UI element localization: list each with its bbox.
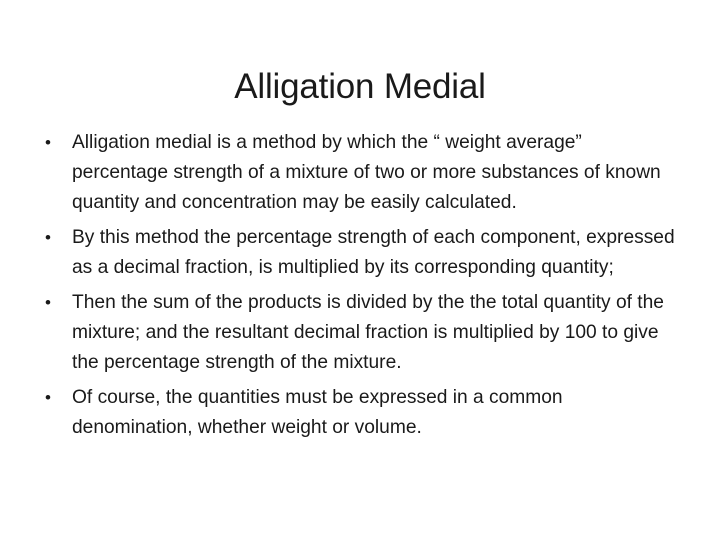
list-item: • By this method the percentage strength… <box>40 223 680 283</box>
list-item-text: By this method the percentage strength o… <box>72 223 680 283</box>
list-item-text: Then the sum of the products is divided … <box>72 288 680 378</box>
bullet-list: • Alligation medial is a method by which… <box>40 128 680 443</box>
list-item: • Then the sum of the products is divide… <box>40 288 680 378</box>
page-title: Alligation Medial <box>40 66 680 108</box>
bullet-point-icon: • <box>45 288 59 318</box>
bullet-point-icon: • <box>45 223 59 253</box>
list-item: • Alligation medial is a method by which… <box>40 128 680 218</box>
list-item: • Of course, the quantities must be expr… <box>40 383 680 443</box>
bullet-point-icon: • <box>45 383 59 413</box>
bullet-point-icon: • <box>45 128 59 158</box>
list-item-text: Of course, the quantities must be expres… <box>72 383 680 443</box>
list-item-text: Alligation medial is a method by which t… <box>72 128 680 218</box>
slide-canvas: Alligation Medial • Alligation medial is… <box>0 0 720 539</box>
